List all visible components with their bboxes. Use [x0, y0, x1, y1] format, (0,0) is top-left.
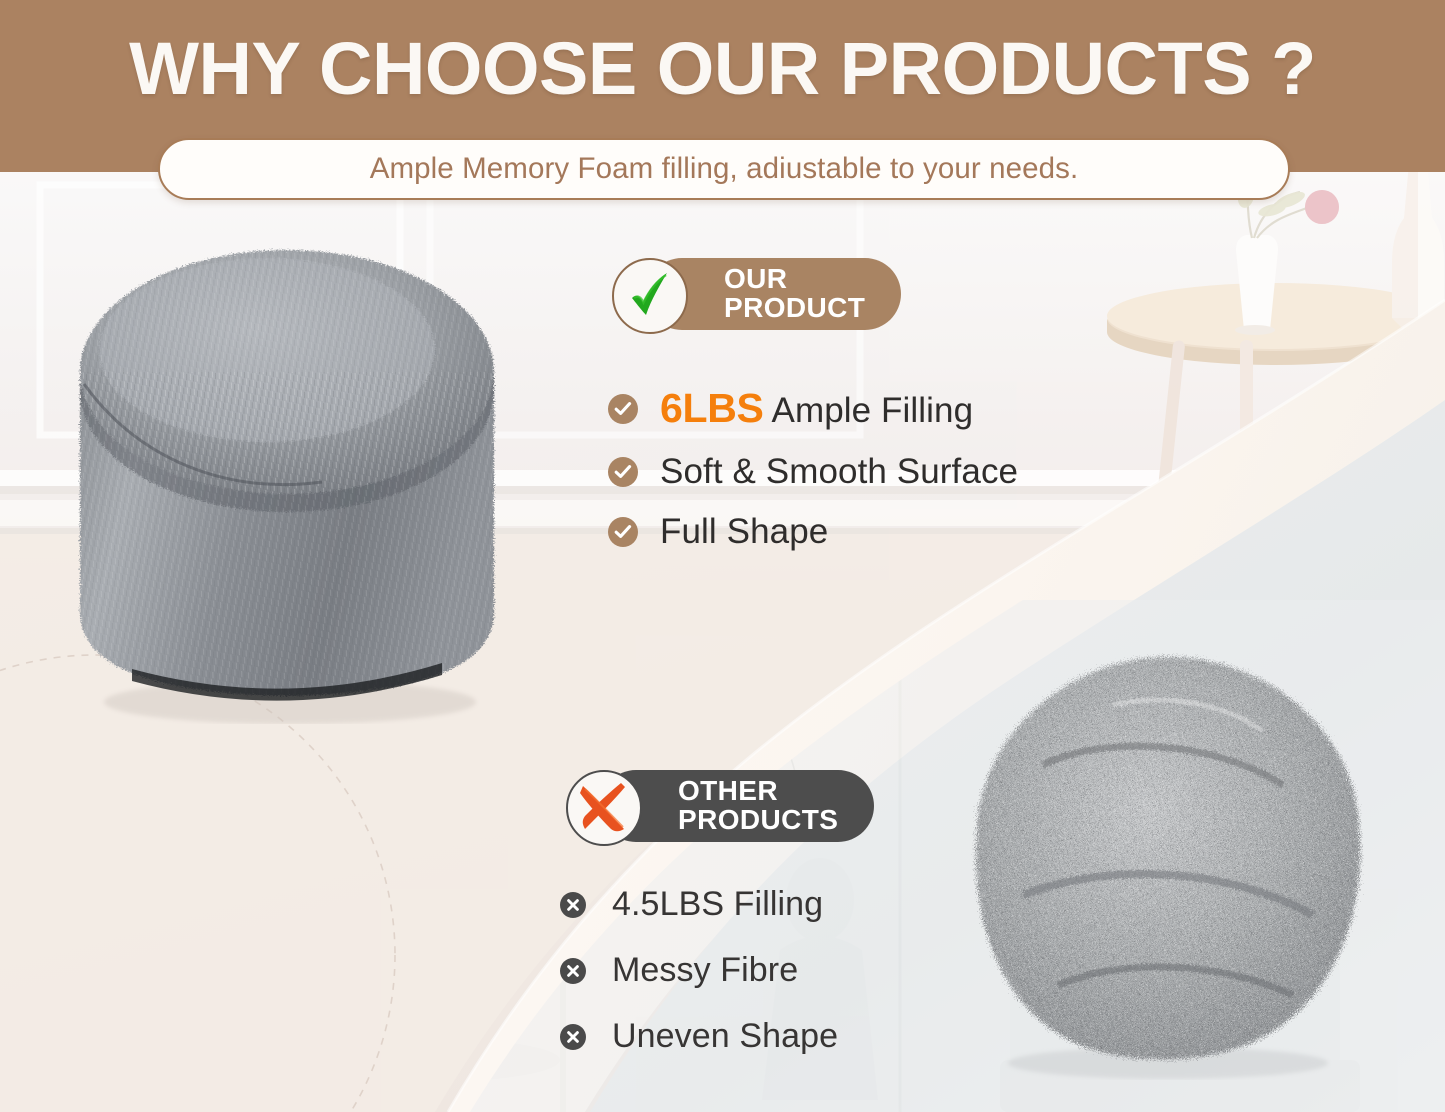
list-item: 6LBS Ample Filling [608, 385, 1018, 432]
check-circle-icon [608, 517, 638, 547]
subtitle-pill: Ample Memory Foam filling, adiustable to… [158, 138, 1290, 200]
our-product-image [62, 232, 512, 724]
check-circle-icon [608, 394, 638, 424]
list-item: Soft & Smooth Surface [608, 452, 1018, 492]
feature-text: Messy Fibre [612, 951, 798, 990]
list-item: Uneven Shape [560, 1017, 838, 1056]
page-title: WHY CHOOSE OUR PRODUCTS ? [0, 30, 1445, 108]
list-item: Messy Fibre [560, 951, 838, 990]
other-products-badge-line1: OTHER [678, 777, 838, 806]
green-check-icon [612, 258, 688, 334]
other-product-image [963, 645, 1373, 1080]
x-circle-icon [560, 958, 586, 984]
feature-text: Full Shape [660, 512, 828, 552]
subtitle-text: Ample Memory Foam filling, adiustable to… [370, 152, 1079, 186]
feature-text: Soft & Smooth Surface [660, 452, 1018, 492]
our-product-feature-list: 6LBS Ample Filling Soft & Smooth Surface… [608, 385, 1018, 572]
our-product-badge-line1: OUR [724, 265, 865, 294]
feature-text: Uneven Shape [612, 1017, 838, 1056]
list-item: Full Shape [608, 512, 1018, 552]
check-circle-icon [608, 457, 638, 487]
other-products-feature-list: 4.5LBS Filling Messy Fibre Uneven Shape [560, 885, 838, 1083]
x-circle-icon [560, 892, 586, 918]
red-cross-icon [566, 770, 642, 846]
feature-text: 6LBS Ample Filling [660, 385, 973, 432]
feature-rest: Ample Filling [764, 391, 974, 430]
x-circle-icon [560, 1024, 586, 1050]
feature-text: 4.5LBS Filling [612, 885, 823, 924]
other-products-badge-label: OTHER PRODUCTS [678, 777, 838, 834]
our-product-badge-line2: PRODUCT [724, 294, 865, 323]
list-item: 4.5LBS Filling [560, 885, 838, 924]
other-products-badge-line2: PRODUCTS [678, 806, 838, 835]
product-comparison-infographic: WHY CHOOSE OUR PRODUCTS ? Ample Memory F… [0, 0, 1445, 1112]
our-product-badge-label: OUR PRODUCT [724, 265, 865, 322]
feature-highlight: 6LBS [660, 385, 764, 431]
